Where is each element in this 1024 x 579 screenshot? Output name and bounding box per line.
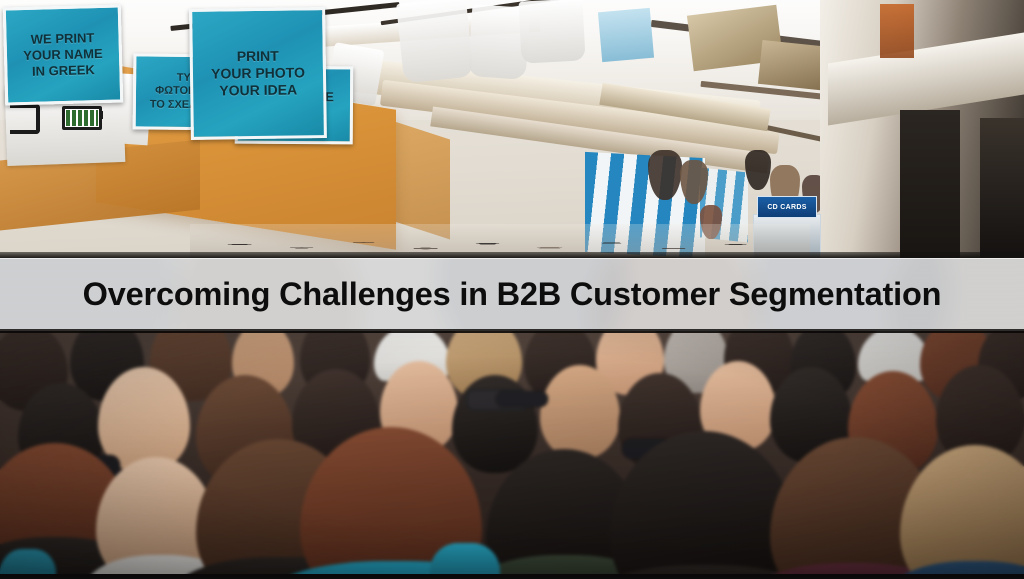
- band-edge-top: [0, 258, 1024, 259]
- hero-banner: CD CARDS ΤΥΠΩ ΦΩΤΟΓΡΑΦΙΑ ΤΟ ΣΧΕΔΙΟ ΣΟΥ Y…: [0, 0, 1024, 579]
- hanging-cloth: [396, 0, 474, 83]
- sign-line: IN GREEK: [32, 62, 95, 79]
- shop-doorway: [900, 110, 960, 258]
- shop-doorway: [980, 118, 1024, 258]
- sign-line: WE PRINT: [31, 30, 95, 48]
- bottom-border: [0, 574, 1024, 577]
- bracket-icon: [10, 104, 40, 134]
- hanging-cloth: [598, 8, 654, 62]
- page-title: Overcoming Challenges in B2B Customer Se…: [83, 278, 942, 311]
- bottom-crowd-photo: [0, 331, 1024, 577]
- top-market-photo: CD CARDS ΤΥΠΩ ΦΩΤΟΓΡΑΦΙΑ ΤΟ ΣΧΕΔΙΟ ΣΟΥ Y…: [0, 0, 1024, 258]
- photo-divider-bottom: [0, 331, 1024, 333]
- sign-line: PRINT: [237, 48, 279, 66]
- sunglasses-icon: [496, 391, 548, 407]
- hanging-cloth: [518, 0, 585, 64]
- sign-print-your-photo: PRINT YOUR PHOTO YOUR IDEA: [189, 7, 327, 140]
- sign-line: YOUR PHOTO: [211, 64, 305, 82]
- battery-terminal-icon: [99, 111, 103, 119]
- cd-cards-sign: CD CARDS: [757, 196, 817, 218]
- hanging-bag: [745, 150, 771, 190]
- sign-we-print-your-name: WE PRINT YOUR NAME IN GREEK: [3, 4, 124, 105]
- battery-icon: [62, 106, 102, 130]
- sign-line: YOUR IDEA: [219, 81, 297, 99]
- crowd-person: [540, 365, 620, 459]
- shop-sign-orange: [880, 4, 914, 58]
- title-band: Overcoming Challenges in B2B Customer Se…: [0, 258, 1024, 331]
